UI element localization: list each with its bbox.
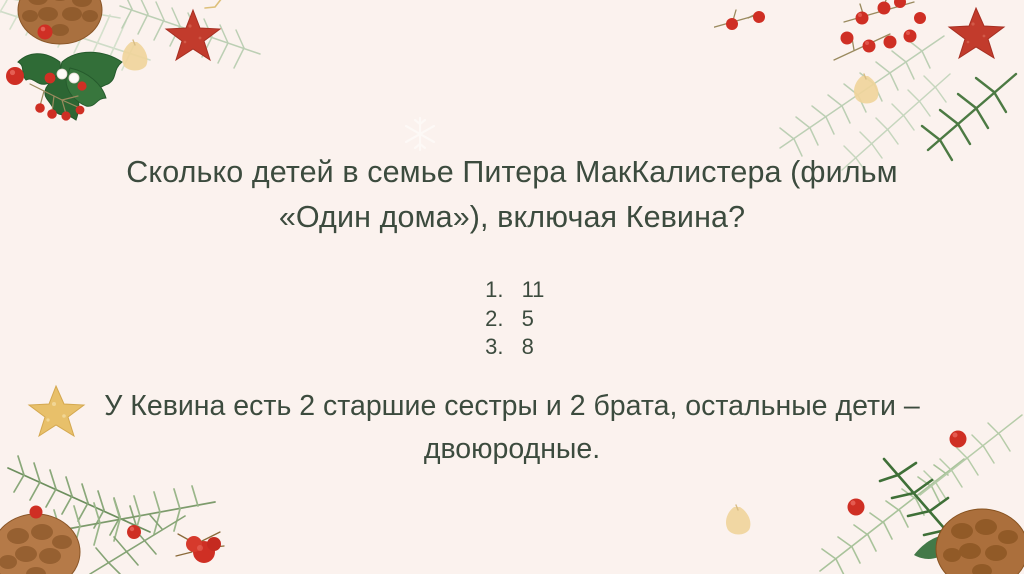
slide-content: Сколько детей в семье Питера МакКалистер… [0, 0, 1024, 574]
quiz-slide: Сколько детей в семье Питера МакКалистер… [0, 0, 1024, 574]
list-item: 5 [510, 305, 545, 334]
list-item: 8 [510, 333, 545, 362]
options-list: 11 5 8 [0, 276, 1024, 362]
question-text: Сколько детей в семье Питера МакКалистер… [96, 150, 928, 240]
list-item: 11 [510, 276, 545, 305]
answer-text: У Кевина есть 2 старшие сестры и 2 брата… [96, 385, 928, 471]
